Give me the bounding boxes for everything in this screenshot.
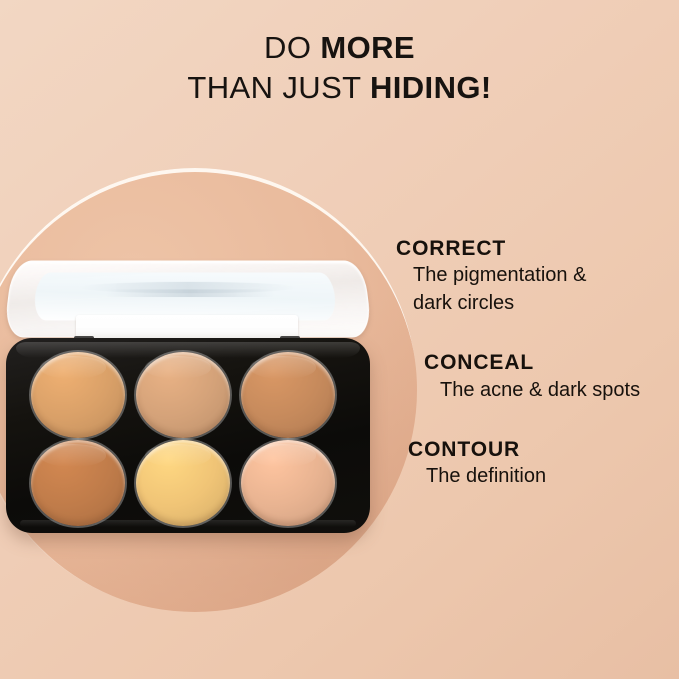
headline-line-2-bold: HIDING! — [370, 70, 492, 105]
benefit-correct: CORRECT The pigmentation & dark circles — [382, 236, 674, 316]
benefit-conceal: CONCEAL The acne & dark spots — [382, 350, 674, 403]
benefit-correct-desc-line-1: The pigmentation & — [413, 263, 674, 289]
pan-6-light-peach — [241, 440, 335, 526]
headline-line-1: DO MORE — [0, 28, 679, 68]
benefit-contour: CONTOUR The definition — [382, 437, 674, 490]
palette-pan — [28, 352, 128, 439]
palette-pan — [238, 440, 338, 527]
palette-pan — [133, 352, 233, 439]
benefit-list: CORRECT The pigmentation & dark circles … — [382, 236, 674, 518]
headline-line-2-light: THAN JUST — [187, 70, 370, 105]
benefit-conceal-title: CONCEAL — [424, 350, 674, 375]
benefit-correct-title: CORRECT — [396, 236, 674, 261]
pan-1-golden-tan — [31, 352, 125, 438]
headline-line-1-light: DO — [264, 30, 320, 65]
benefit-conceal-desc-line-1: The acne & dark spots — [440, 378, 674, 404]
palette-lid-brand-imprint — [105, 289, 275, 297]
product-marketing-poster: DO MORE THAN JUST HIDING! — [0, 0, 679, 679]
benefit-contour-title: CONTOUR — [408, 437, 674, 462]
palette-pan-grid — [28, 352, 348, 527]
pan-3-caramel — [241, 352, 335, 438]
pan-4-terracotta — [31, 440, 125, 526]
pan-2-peach-tan — [136, 352, 230, 438]
benefit-contour-desc-line-1: The definition — [426, 464, 674, 490]
palette-pan — [133, 440, 233, 527]
pan-5-yellow-gold — [136, 440, 230, 526]
palette-pan — [238, 352, 338, 439]
concealer-palette — [6, 258, 370, 543]
palette-pan — [28, 440, 128, 527]
benefit-correct-desc-line-2: dark circles — [413, 291, 674, 317]
headline: DO MORE THAN JUST HIDING! — [0, 28, 679, 107]
headline-line-1-bold: MORE — [320, 30, 415, 65]
headline-line-2: THAN JUST HIDING! — [0, 68, 679, 108]
